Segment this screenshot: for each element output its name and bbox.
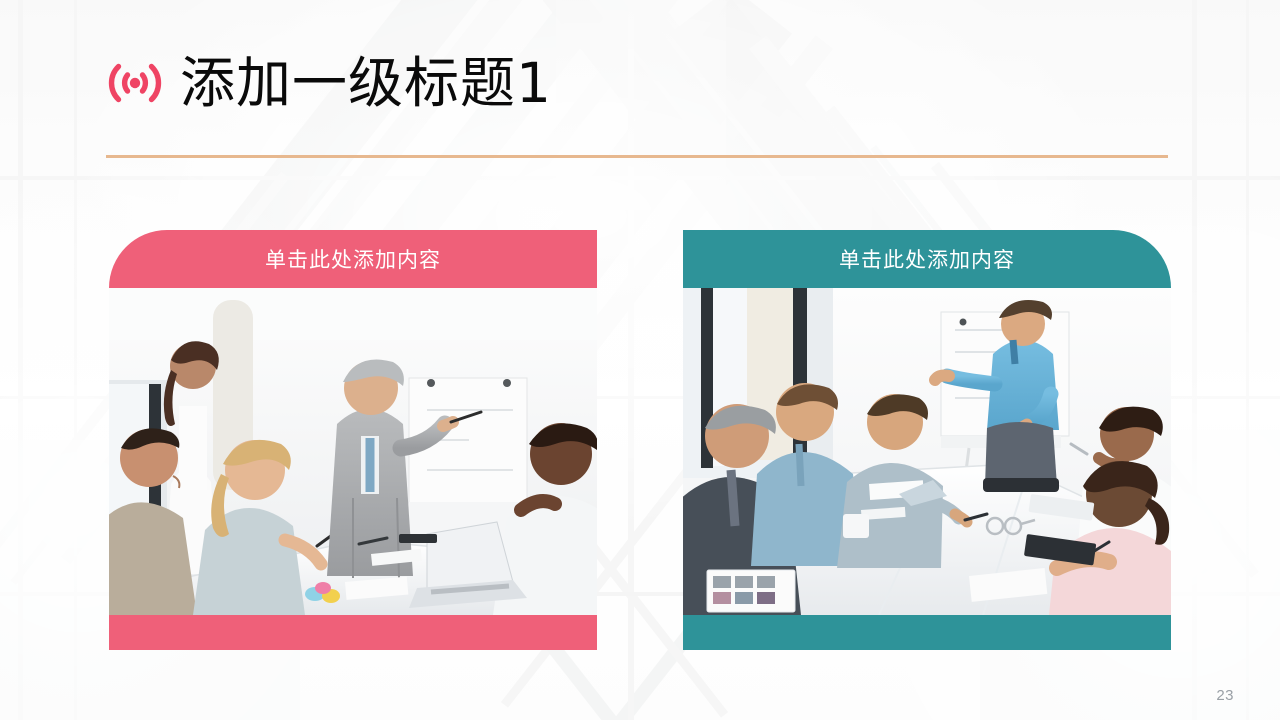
card-photo-right[interactable] [683, 288, 1171, 615]
card-footer-right [683, 615, 1171, 650]
page-title: 添加一级标题1 [180, 56, 552, 111]
broadcast-signal-icon [104, 52, 166, 114]
card-header-label: 单击此处添加内容 [265, 244, 441, 274]
card-footer-left [109, 615, 597, 650]
title-divider [106, 155, 1168, 158]
content-card-right[interactable]: 单击此处添加内容 [683, 230, 1171, 650]
card-photo-left[interactable] [109, 288, 597, 615]
slide-title-row: 添加一级标题1 [104, 52, 552, 114]
card-header-left[interactable]: 单击此处添加内容 [109, 230, 597, 288]
card-header-right[interactable]: 单击此处添加内容 [683, 230, 1171, 288]
card-header-label: 单击此处添加内容 [839, 244, 1015, 274]
content-card-left[interactable]: 单击此处添加内容 [109, 230, 597, 650]
page-number: 23 [1216, 687, 1234, 704]
